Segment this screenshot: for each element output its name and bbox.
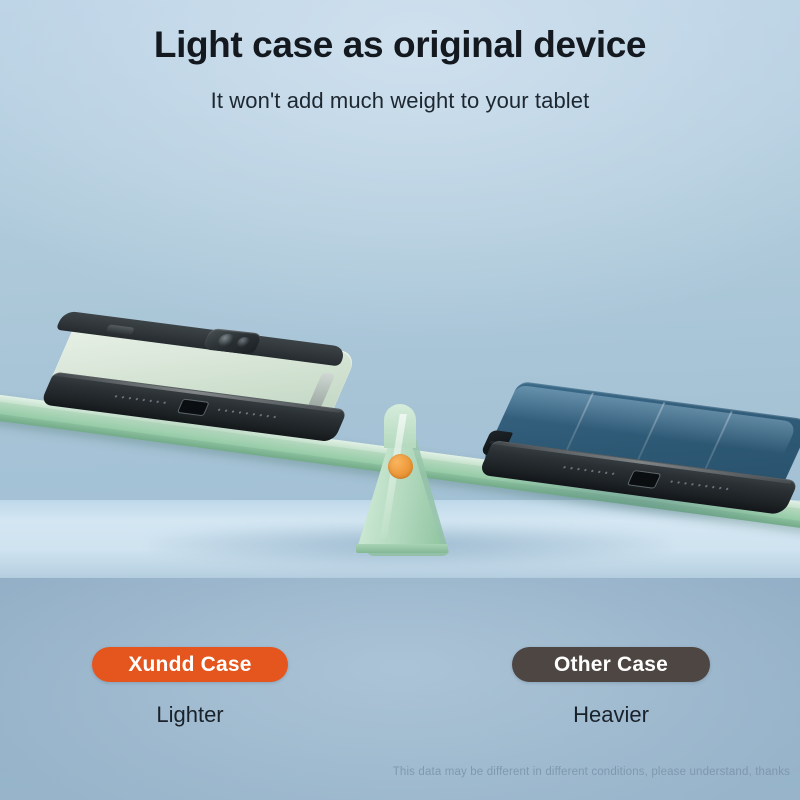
product-comparison-banner: Light case as original device It won't a… bbox=[0, 0, 800, 800]
weight-label-lighter: Lighter bbox=[92, 702, 288, 728]
disclaimer-text: This data may be different in different … bbox=[0, 766, 790, 778]
tablet-other-case bbox=[474, 377, 800, 553]
seesaw-illustration bbox=[0, 0, 800, 580]
pivot-point-icon bbox=[388, 454, 413, 479]
badge-other-case: Other Case bbox=[512, 647, 710, 682]
badge-xundd-case: Xundd Case bbox=[92, 647, 288, 682]
weight-label-heavier: Heavier bbox=[512, 702, 710, 728]
fulcrum-base bbox=[356, 544, 448, 553]
tablet-xundd-case bbox=[34, 311, 357, 470]
seesaw-fulcrum bbox=[356, 406, 456, 556]
